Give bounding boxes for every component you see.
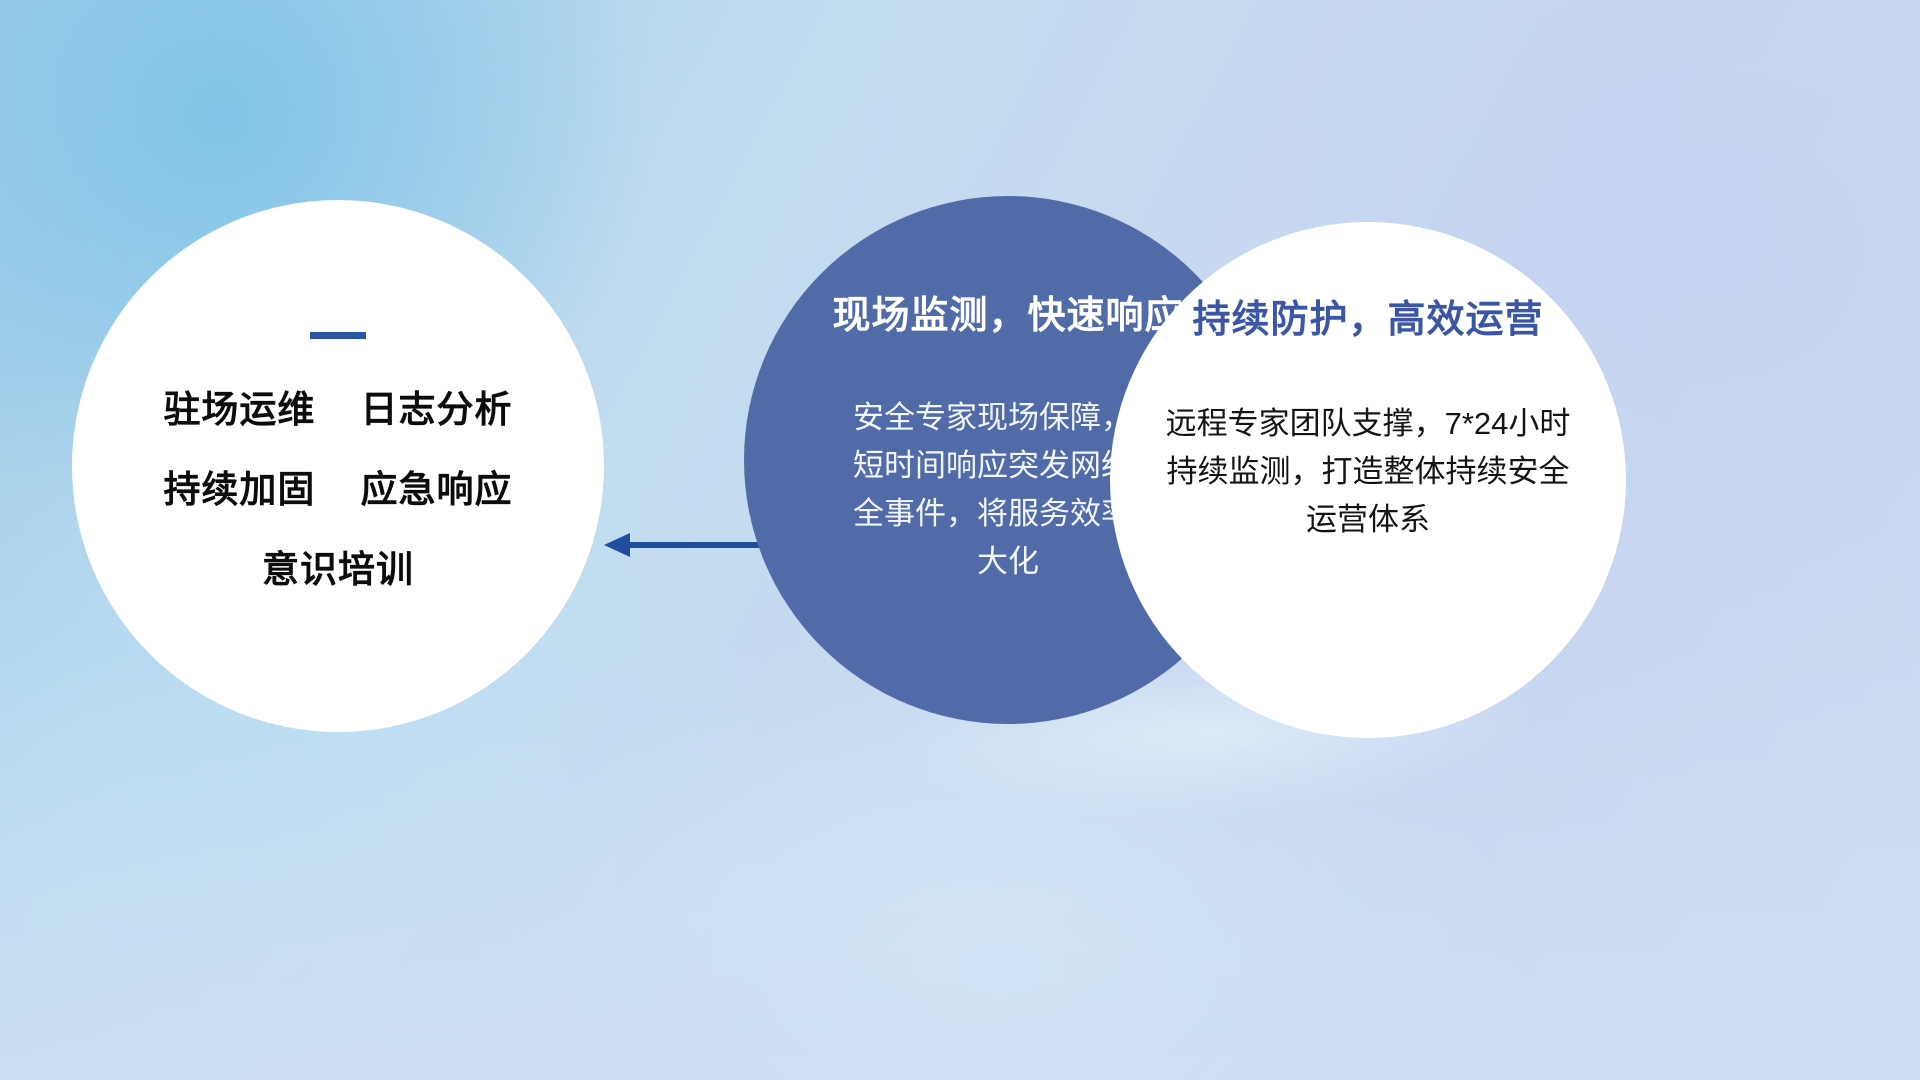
continuous-protection-circle: 持续防护，高效运营 远程专家团队支撑，7*24小时持续监测，打造整体持续安全运营…: [1110, 222, 1626, 738]
capabilities-circle: 驻场运维 日志分析 持续加固 应急响应 意识培训: [72, 200, 604, 732]
diagram-canvas: 驻场运维 日志分析 持续加固 应急响应 意识培训 现场监测，快速响应 安全专家现…: [0, 0, 1920, 1080]
capability-line-1: 驻场运维 日志分析: [72, 391, 604, 428]
continuous-protection-title: 持续防护，高效运营: [1110, 300, 1626, 342]
capability-line-2: 持续加固 应急响应: [72, 471, 604, 508]
capability-line-3: 意识培训: [72, 551, 604, 588]
continuous-protection-body: 远程专家团队支撑，7*24小时持续监测，打造整体持续安全运营体系: [1158, 400, 1578, 544]
capability-keyword-list: 驻场运维 日志分析 持续加固 应急响应 意识培训: [72, 391, 604, 588]
accent-dash-divider: [310, 332, 366, 339]
